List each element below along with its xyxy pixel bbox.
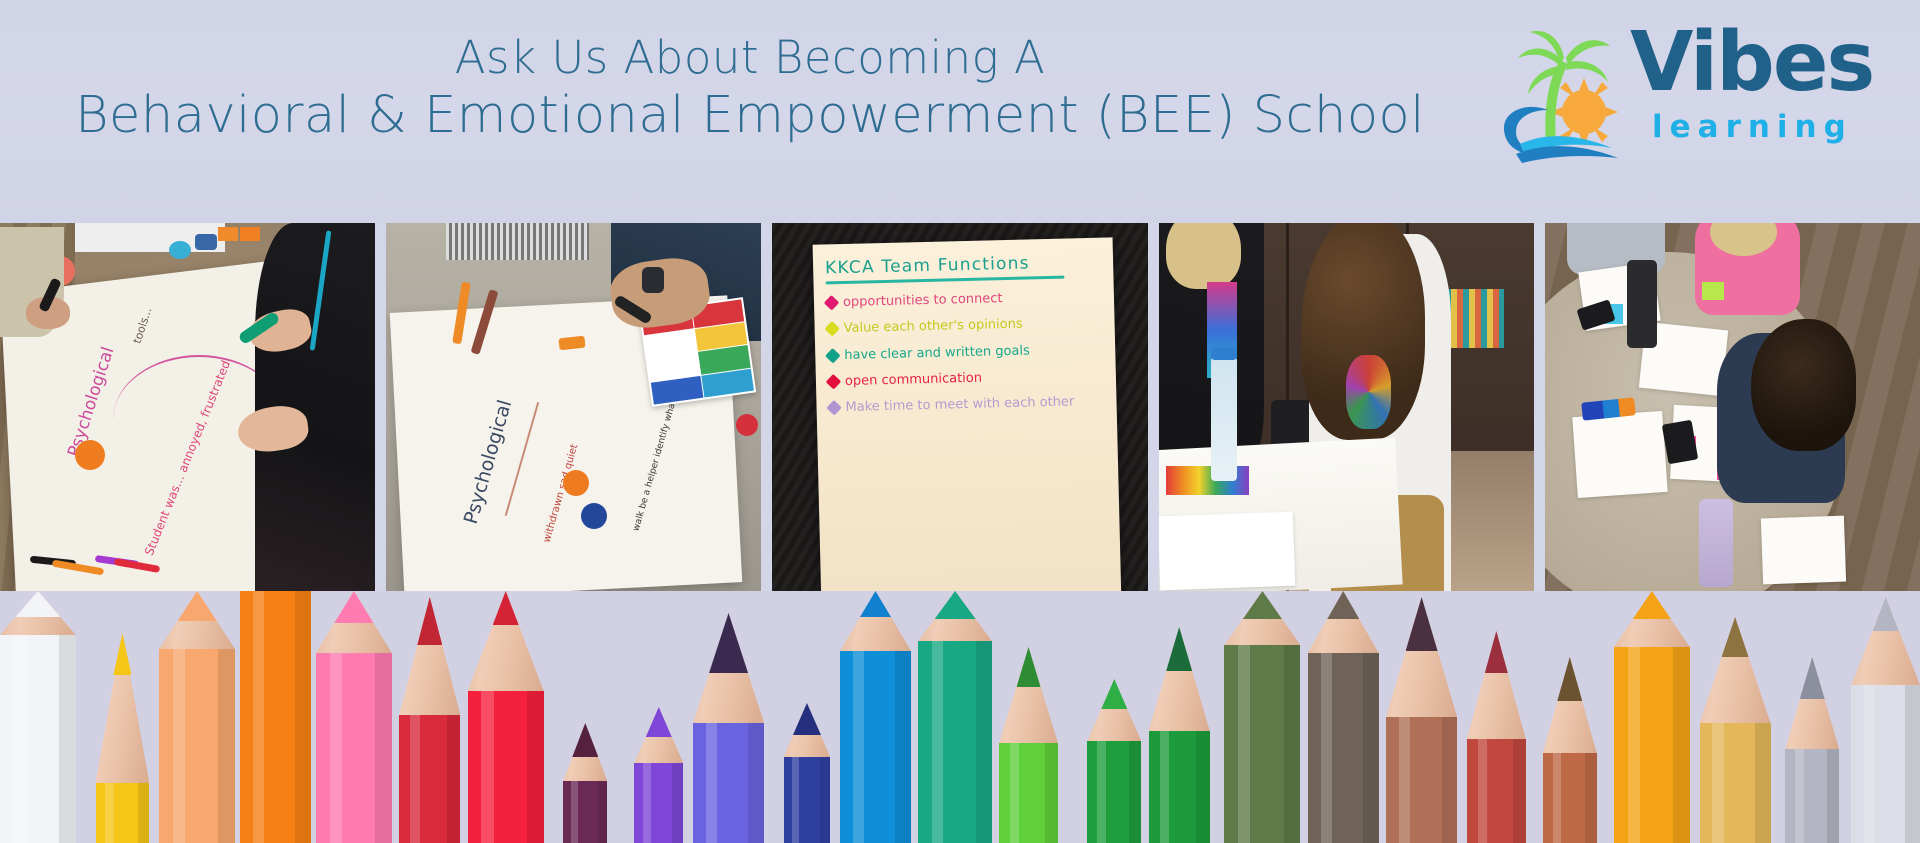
colored-pencil — [240, 591, 311, 843]
colored-pencil — [840, 591, 911, 843]
colored-pencil — [1851, 597, 1920, 843]
pencil-lead-tip — [572, 723, 598, 757]
title-line-1: Ask Us About Becoming A — [0, 32, 1500, 83]
pencil-lead-tip — [178, 591, 217, 621]
colored-pencil — [399, 597, 460, 843]
pencil-barrel — [634, 763, 683, 843]
pencil-barrel — [1700, 723, 1771, 843]
pencil-barrel — [693, 723, 764, 843]
colored-pencils-band — [0, 591, 1920, 843]
diamond-bullet-icon — [824, 295, 840, 311]
colored-pencil — [1543, 657, 1597, 843]
colored-pencil — [999, 647, 1058, 843]
page-root: Ask Us About Becoming A Behavioral & Emo… — [0, 0, 1920, 843]
pencil-barrel — [1149, 731, 1210, 843]
diamond-bullet-icon — [825, 348, 841, 364]
gallery-photo-4[interactable] — [1159, 223, 1534, 591]
logo-wordmark: Vibes learning — [1630, 22, 1892, 162]
pencil-barrel — [1308, 653, 1379, 843]
gallery-photo-3[interactable]: KKCA Team Functions opportunities to con… — [772, 223, 1147, 591]
colored-pencil — [1785, 657, 1839, 843]
kkca-item-text: Value each other's opinions — [844, 317, 1023, 337]
pencil-barrel — [1851, 685, 1920, 843]
vibes-learning-logo[interactable]: Vibes learning — [1502, 18, 1892, 168]
colored-pencil — [0, 591, 76, 843]
pencil-lead-tip — [1633, 591, 1671, 619]
pencil-lead-tip — [1101, 679, 1127, 709]
photo-gallery-strip: Psychological Student was... annoyed, fr… — [0, 223, 1920, 591]
colored-pencil — [1614, 591, 1690, 843]
pencil-lead-tip — [1873, 597, 1899, 631]
colored-pencil — [918, 591, 991, 843]
logo-brand-text: Vibes — [1630, 22, 1873, 104]
colored-pencil — [563, 723, 607, 843]
header-banner: Ask Us About Becoming A Behavioral & Emo… — [0, 0, 1920, 223]
pencil-lead-tip — [417, 597, 442, 645]
palm-tree-sun-wave-icon — [1502, 24, 1630, 164]
pencil-barrel — [399, 715, 460, 843]
pencil-lead-tip — [1327, 591, 1359, 619]
pencil-lead-tip — [793, 703, 821, 735]
logo-tagline-text: learning — [1652, 112, 1853, 143]
pencil-lead-tip — [860, 591, 891, 617]
kkca-list-item: opportunities to connect — [826, 289, 1104, 311]
pencil-barrel — [1087, 741, 1141, 843]
pencil-barrel — [563, 781, 607, 843]
diamond-bullet-icon — [826, 374, 842, 390]
kkca-list-item: Make time to meet with each other — [829, 394, 1107, 416]
colored-pencil — [784, 703, 831, 843]
page-title: Ask Us About Becoming A Behavioral & Emo… — [0, 32, 1500, 145]
colored-pencil — [96, 633, 150, 843]
colored-pencil — [1224, 591, 1300, 843]
colored-pencil — [1467, 631, 1526, 843]
colored-pencil — [316, 591, 392, 843]
diamond-bullet-icon — [827, 401, 843, 417]
kkca-item-text: Make time to meet with each other — [846, 395, 1075, 416]
pencil-lead-tip — [334, 591, 373, 623]
pencil-lead-tip — [1406, 597, 1438, 651]
pencil-lead-tip — [113, 633, 131, 675]
gallery-photo-1[interactable]: Psychological Student was... annoyed, fr… — [0, 223, 375, 591]
kkca-list-item: open communication — [828, 368, 1106, 390]
colored-pencil — [1386, 597, 1457, 843]
colored-pencil — [693, 613, 764, 843]
kkca-flip-chart: KKCA Team Functions opportunities to con… — [813, 238, 1122, 591]
pencil-lead-tip — [1243, 591, 1282, 619]
pencil-barrel — [96, 783, 150, 843]
pencil-barrel — [840, 651, 911, 843]
pencil-barrel — [316, 653, 392, 843]
kkca-list-item: have clear and written goals — [828, 342, 1106, 364]
pencil-barrel — [468, 691, 544, 843]
pencil-lead-tip — [1722, 617, 1749, 657]
pencil-barrel — [1543, 753, 1597, 843]
pencil-barrel — [1785, 749, 1839, 843]
pencil-lead-tip — [935, 591, 976, 619]
kkca-item-text: open communication — [845, 371, 982, 390]
colored-pencil — [1308, 591, 1379, 843]
pencil-lead-tip — [709, 613, 748, 673]
diamond-bullet-icon — [825, 322, 841, 338]
pencil-barrel — [1386, 717, 1457, 843]
kkca-list-item: Value each other's opinions — [827, 315, 1105, 337]
gallery-photo-2[interactable]: Psychological withdrawn sad quiet walk b… — [386, 223, 761, 591]
pencil-lead-tip — [1166, 627, 1192, 671]
pencil-lead-tip — [1485, 631, 1508, 673]
pencil-barrel — [918, 641, 991, 843]
title-line-2: Behavioral & Emotional Empowerment (BEE)… — [0, 87, 1500, 145]
pencil-lead-tip — [1800, 657, 1825, 699]
pencil-lead-tip — [15, 591, 60, 617]
gallery-photo-5[interactable] — [1545, 223, 1920, 591]
colored-pencil — [1700, 617, 1771, 843]
colored-pencil — [1087, 679, 1141, 843]
pencil-lead-tip — [1557, 657, 1582, 701]
kkca-item-text: opportunities to connect — [843, 291, 1003, 310]
colored-pencil — [159, 591, 235, 843]
pencil-barrel — [784, 757, 831, 843]
pencil-lead-tip — [1017, 647, 1041, 687]
pencil-barrel — [1614, 647, 1690, 843]
colored-pencil — [1149, 627, 1210, 843]
colored-pencil — [468, 591, 544, 843]
pencil-barrel — [1224, 645, 1300, 843]
kkca-chart-list: opportunities to connect Value each othe… — [826, 289, 1107, 416]
pencil-barrel — [159, 649, 235, 843]
pencil-lead-tip — [646, 707, 672, 737]
pencil-lead-tip — [493, 591, 519, 625]
pencil-barrel — [240, 591, 311, 843]
pencil-barrel — [999, 743, 1058, 843]
pencil-barrel — [1467, 739, 1526, 843]
colored-pencil — [634, 707, 683, 843]
pencil-barrel — [0, 635, 76, 843]
kkca-item-text: have clear and written goals — [845, 343, 1031, 363]
